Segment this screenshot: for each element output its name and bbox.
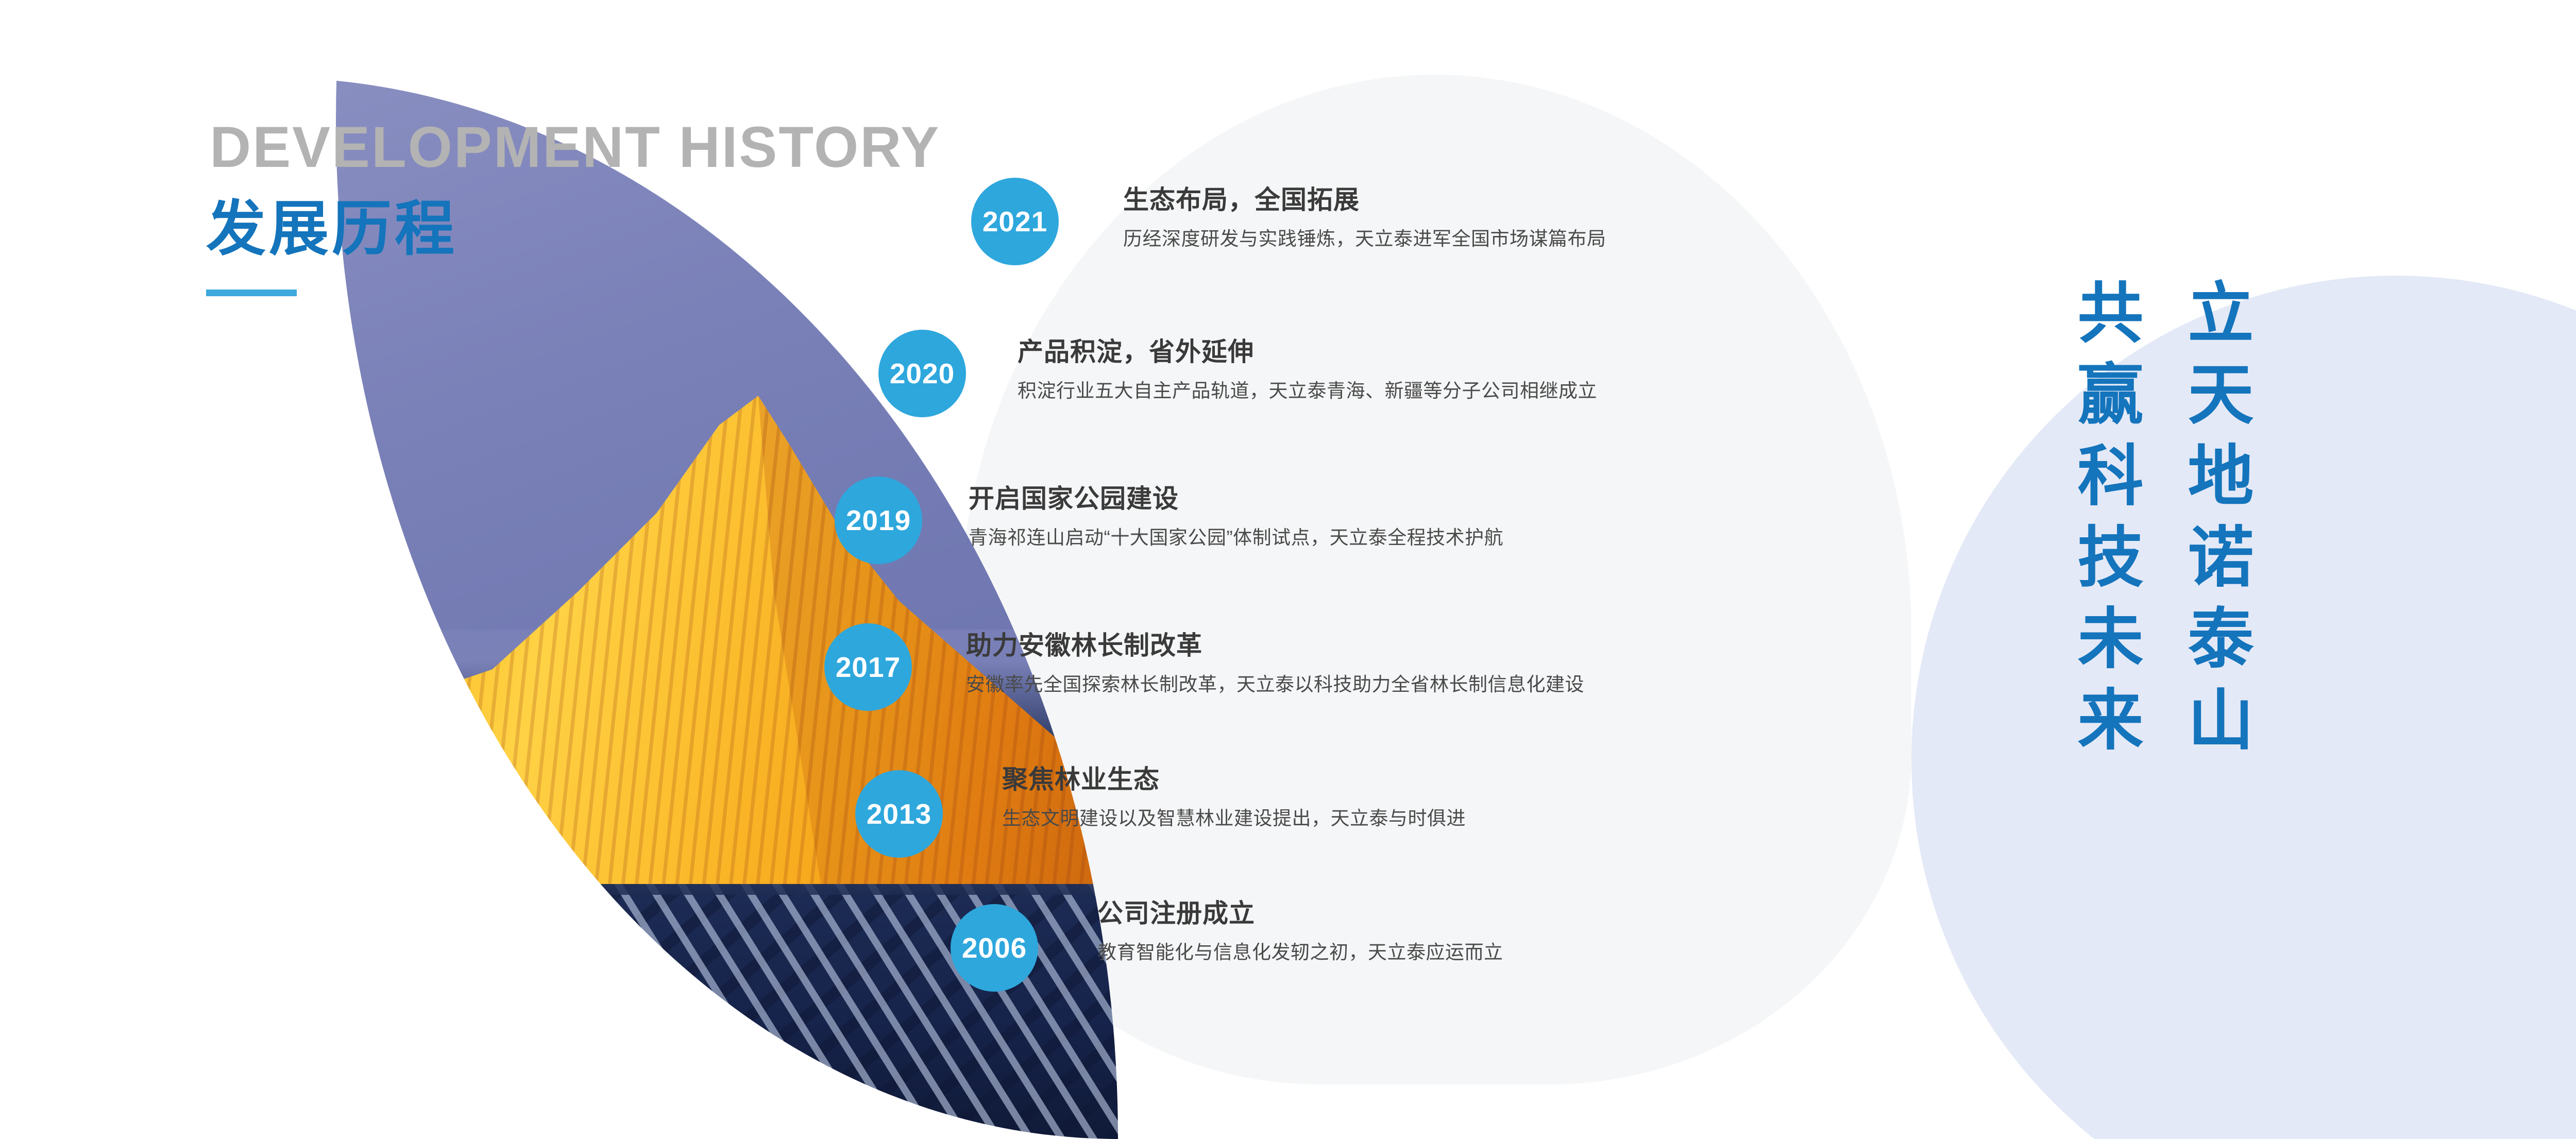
slogan-column-right: 立天地诺泰山 [2181, 278, 2247, 767]
timeline-entry-text: 公司注册成立 教育智能化与信息化发轫之初，天立泰应运而立 [1097, 899, 1503, 965]
timeline-entry-title: 开启国家公园建设 [969, 484, 1503, 514]
timeline-year-badge[interactable]: 2019 [835, 477, 922, 564]
timeline-entry-text: 产品积淀，省外延伸 积淀行业五大自主产品轨道，天立泰青海、新疆等分子公司相继成立 [1018, 337, 1597, 403]
timeline-entry-desc: 安徽率先全国探索林长制改革，天立泰以科技助力全省林长制信息化建设 [966, 672, 1584, 697]
timeline-entry-title: 公司注册成立 [1097, 899, 1503, 929]
timeline-entry-title: 产品积淀，省外延伸 [1018, 337, 1597, 367]
timeline-entry-desc: 积淀行业五大自主产品轨道，天立泰青海、新疆等分子公司相继成立 [1018, 379, 1597, 403]
timeline-entry-text: 开启国家公园建设 青海祁连山启动“十大国家公园”体制试点，天立泰全程技术护航 [969, 484, 1503, 550]
timeline-entry-desc: 青海祁连山启动“十大国家公园”体制试点，天立泰全程技术护航 [969, 525, 1503, 550]
timeline-entry-desc: 教育智能化与信息化发轫之初，天立泰应运而立 [1097, 940, 1503, 965]
timeline-year-badge[interactable]: 2020 [878, 330, 966, 417]
timeline-entry-title: 生态布局，全国拓展 [1123, 185, 1606, 215]
timeline-entry-title: 助力安徽林长制改革 [966, 631, 1584, 661]
timeline-entry-title: 聚焦林业生态 [1002, 765, 1466, 795]
slogan-block: 共赢科技未来 立天地诺泰山 [2071, 278, 2576, 767]
timeline-year-badge[interactable]: 2017 [824, 623, 912, 711]
slide-canvas: DEVELOPMENT HISTORY 发展历程 2021 生态布局，全国拓展 … [0, 0, 2576, 1139]
timeline-entry-text: 生态布局，全国拓展 历经深度研发与实践锤炼，天立泰进军全国市场谋篇布局 [1123, 185, 1606, 251]
timeline-year-badge[interactable]: 2013 [855, 770, 943, 858]
timeline-entry-desc: 历经深度研发与实践锤炼，天立泰进军全国市场谋篇布局 [1123, 227, 1606, 251]
timeline-entry-text: 助力安徽林长制改革 安徽率先全国探索林长制改革，天立泰以科技助力全省林长制信息化… [966, 631, 1584, 697]
slogan-column-left: 共赢科技未来 [2071, 278, 2137, 767]
timeline-year-badge[interactable]: 2006 [951, 904, 1038, 992]
timeline-entry-text: 聚焦林业生态 生态文明建设以及智慧林业建设提出，天立泰与时俱进 [1002, 765, 1466, 831]
timeline-year-badge[interactable]: 2021 [971, 178, 1059, 265]
timeline-entry-desc: 生态文明建设以及智慧林业建设提出，天立泰与时俱进 [1002, 806, 1466, 831]
